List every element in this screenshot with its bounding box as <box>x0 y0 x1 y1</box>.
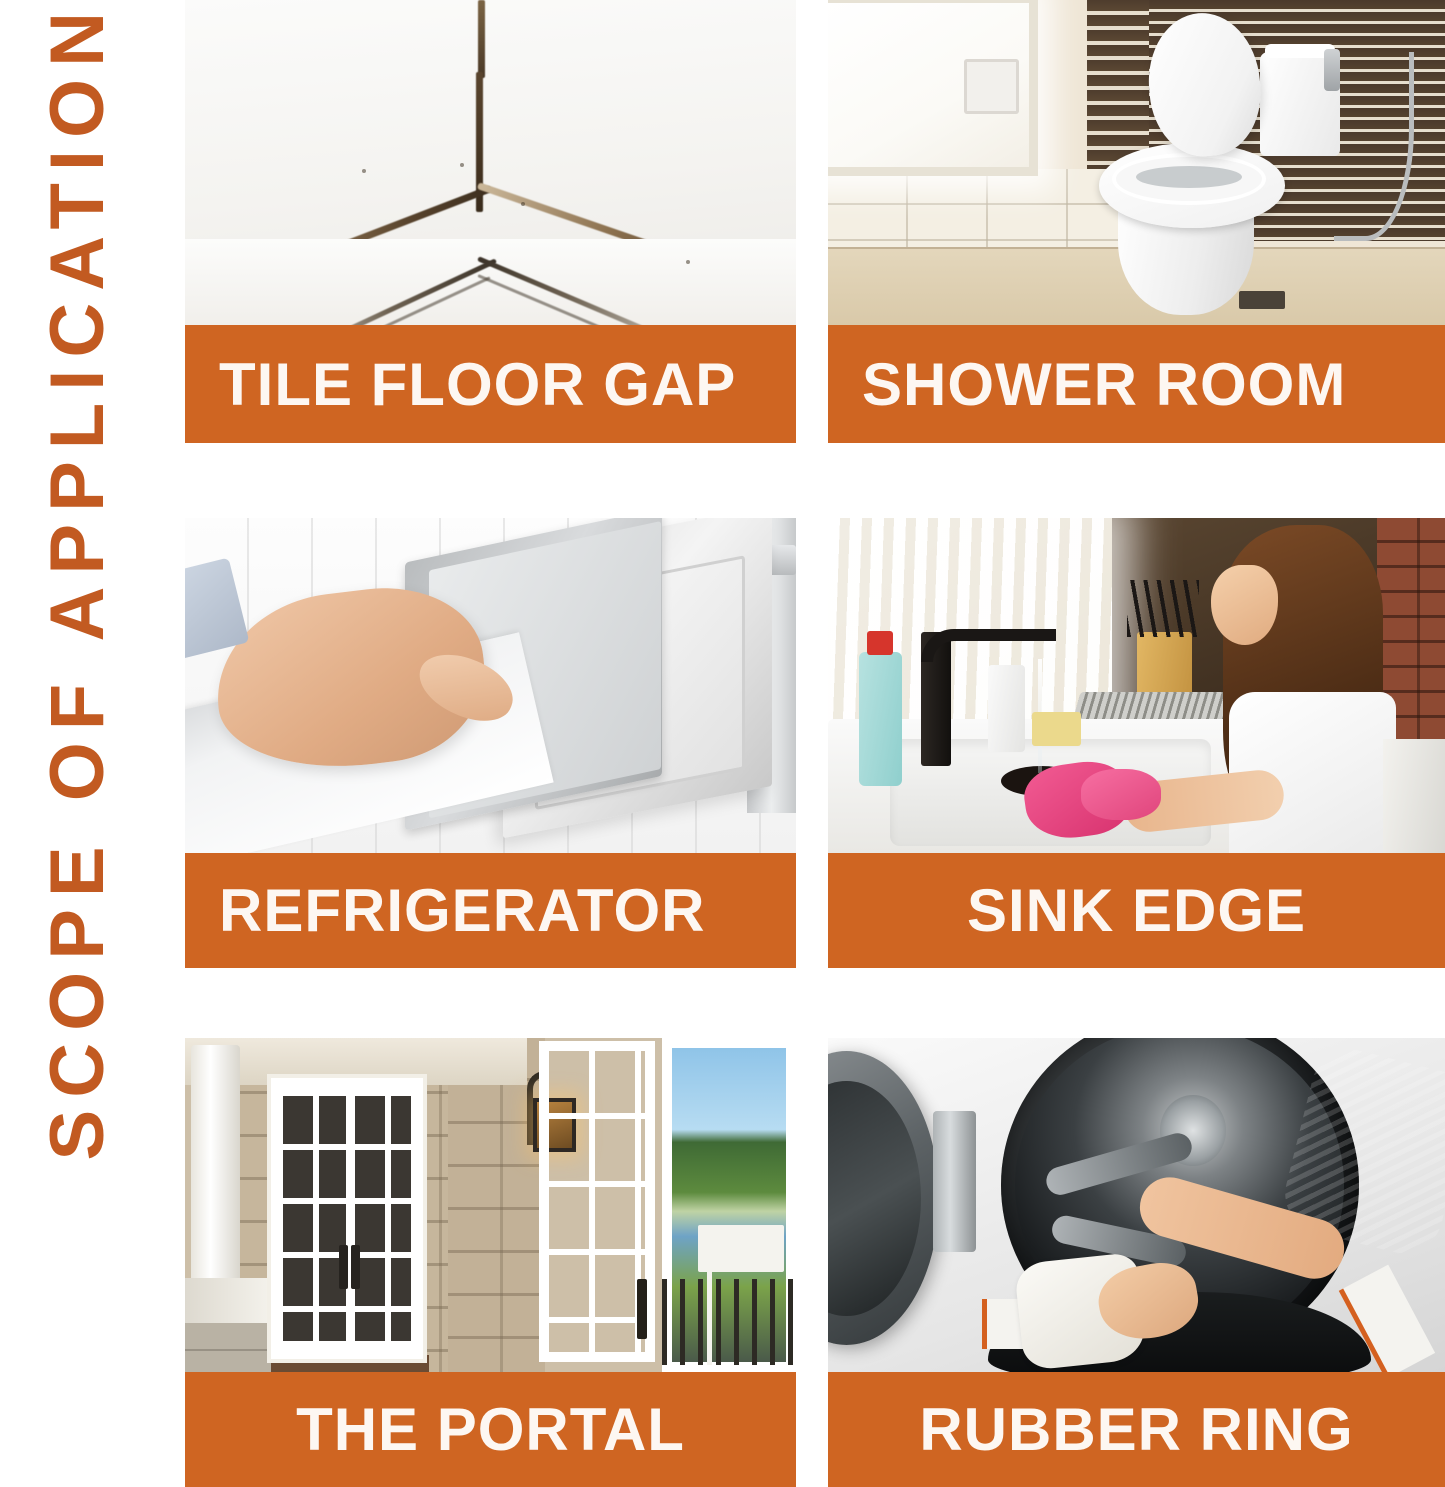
stool <box>1383 739 1445 853</box>
mold-speck <box>362 169 366 173</box>
french-double-door[interactable] <box>271 1078 424 1359</box>
card-shower-room[interactable]: SHOWER ROOM <box>828 0 1445 443</box>
column-base <box>185 1278 271 1372</box>
label-bar-rubber-ring[interactable]: RUBBER RING <box>828 1372 1445 1487</box>
kitchen-sink-washing-photo <box>828 518 1445 853</box>
door-handle-right[interactable] <box>351 1245 360 1289</box>
mold-speck <box>686 260 690 264</box>
white-tile-wainscot <box>828 169 1137 254</box>
sponge <box>1032 712 1081 746</box>
label-text: THE PORTAL <box>296 1395 685 1464</box>
label-text: SINK EDGE <box>967 876 1306 945</box>
french-doors-porch-photo <box>185 1038 796 1372</box>
label-text: TILE FLOOR GAP <box>219 350 736 419</box>
refrigerator-door-seal-photo <box>185 518 796 853</box>
scope-of-application-headline: SCOPE OF APPLICATION <box>0 0 150 1487</box>
card-tile-floor-gap[interactable]: TILE FLOOR GAP <box>185 0 796 443</box>
door-handle-left[interactable] <box>339 1245 348 1289</box>
door-mullion <box>346 1085 355 1352</box>
faucet-spout <box>921 629 1057 663</box>
toilet-seat <box>1112 153 1266 205</box>
label-text: SHOWER ROOM <box>862 350 1346 419</box>
deck-railing <box>662 1279 796 1366</box>
card-rubber-ring[interactable]: RUBBER RING <box>828 968 1445 1487</box>
porch-column <box>191 1045 240 1292</box>
washing-machine-gasket-photo <box>828 1038 1445 1372</box>
pink-rubber-glove-second <box>1081 769 1161 819</box>
label-bar-the-portal[interactable]: THE PORTAL <box>185 1372 796 1487</box>
washer-door-hinge <box>933 1111 976 1251</box>
grout-line-top <box>478 0 485 78</box>
card-sink-edge[interactable]: SINK EDGE <box>828 443 1445 968</box>
label-bar-tile-floor-gap[interactable]: TILE FLOOR GAP <box>185 325 796 443</box>
application-scope-grid: TILE FLOOR GAP SHOWER ROOM <box>185 0 1445 1487</box>
vertical-title-text: SCOPE OF APPLICATION <box>40 0 116 1181</box>
floor-drain <box>1239 291 1285 309</box>
toilet-paper-holder <box>964 59 1020 114</box>
slider-door-handle[interactable] <box>637 1279 647 1339</box>
card-refrigerator[interactable]: REFRIGERATOR <box>185 443 796 968</box>
mold-speck <box>521 202 525 206</box>
bidet-sprayer-head <box>1324 49 1340 91</box>
label-bar-refrigerator[interactable]: REFRIGERATOR <box>185 853 796 968</box>
brown-tile-accent-strip <box>1087 0 1149 169</box>
label-text: REFRIGERATOR <box>219 876 705 945</box>
mold-speck <box>460 163 464 167</box>
card-the-portal[interactable]: THE PORTAL <box>185 968 796 1487</box>
soap-dispenser <box>988 665 1025 752</box>
label-bar-sink-edge[interactable]: SINK EDGE <box>828 853 1445 968</box>
label-bar-shower-room[interactable]: SHOWER ROOM <box>828 325 1445 443</box>
moldy-tile-corner-photo <box>185 0 796 325</box>
shower-room-toilet-photo <box>828 0 1445 325</box>
label-text: RUBBER RING <box>919 1395 1353 1464</box>
white-pergola <box>698 1225 784 1272</box>
spray-cleaner-bottle <box>859 652 902 786</box>
